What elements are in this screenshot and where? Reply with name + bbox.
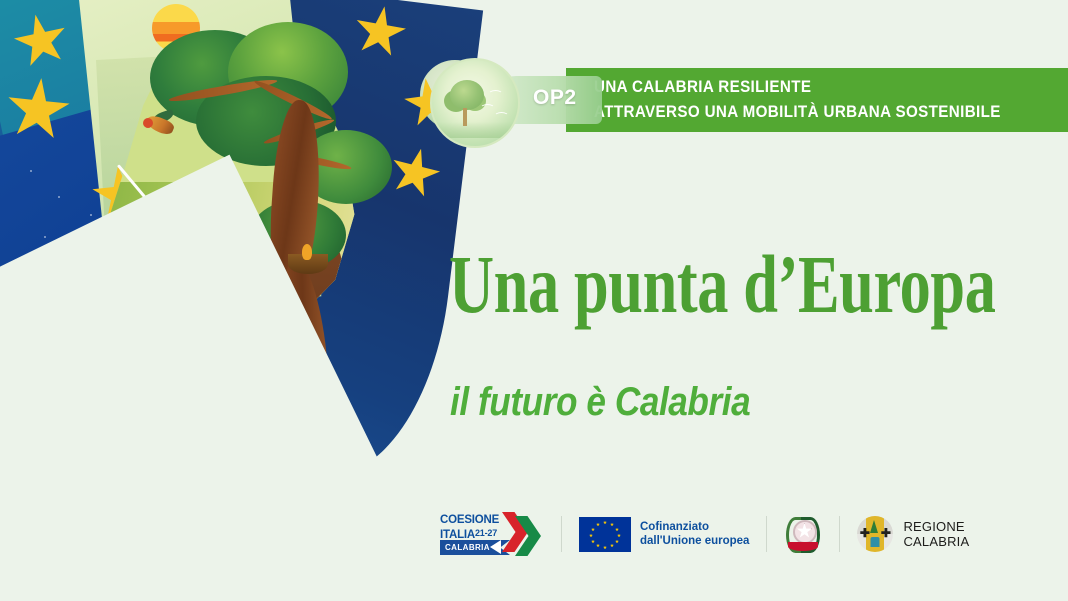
cross-icon: ✚ — [859, 528, 870, 539]
page-title: Una punta d’Europa — [449, 243, 996, 326]
logo-regione-calabria: ✚ ✚ REGIONE CALABRIA — [857, 505, 969, 563]
logo-divider — [766, 516, 767, 552]
badge-tree-canopy — [450, 80, 484, 110]
column-icon — [871, 537, 880, 547]
cofinanziato-wordmark: Cofinanziato dall'Unione europea — [640, 520, 749, 548]
logo-bar: COESIONE ITALIA21-27 CALABRIA — [440, 505, 1040, 563]
banner-line-1: UNA CALABRIA RESILIENTE — [594, 75, 1001, 100]
regione-line-2: CALABRIA — [903, 534, 969, 549]
logo-cofinanziato-ue: Cofinanziato dall'Unione europea — [579, 505, 749, 563]
page-subtitle: il futuro è Calabria — [450, 380, 750, 424]
calabria-illustration — [0, 0, 450, 601]
logo-coesione-italia: COESIONE ITALIA21-27 CALABRIA — [440, 505, 544, 563]
logo-divider — [839, 516, 840, 552]
coesione-years: 21-27 — [475, 528, 497, 538]
coesione-line-2: ITALIA — [440, 529, 475, 541]
tree-icon — [430, 58, 520, 148]
seagull-icon — [480, 104, 495, 113]
seagull-icon — [488, 90, 503, 99]
coesione-wordmark: COESIONE ITALIA21-27 — [440, 514, 499, 541]
logo-divider — [561, 516, 562, 552]
coesione-line-1: COESIONE — [440, 514, 499, 526]
banner-line-2: ATTRAVERSO UNA MOBILITÀ URBANA SOSTENIBI… — [594, 100, 1001, 125]
pine-icon — [870, 520, 878, 533]
seagull-icon — [494, 112, 509, 121]
bird-head — [143, 118, 153, 128]
poster-canvas: UNA CALABRIA RESILIENTE ATTRAVERSO UNA M… — [0, 0, 1068, 601]
logo-repubblica-italiana — [784, 505, 822, 563]
italian-republic-emblem-icon — [784, 513, 822, 555]
badge-tree-trunk — [463, 108, 467, 126]
regione-calabria-wordmark: REGIONE CALABRIA — [903, 519, 969, 549]
regione-calabria-emblem-icon: ✚ ✚ — [857, 516, 893, 552]
nest-chick — [302, 244, 312, 260]
coesione-region-label: CALABRIA — [445, 543, 490, 552]
cofinanziato-line-2: dall'Unione europea — [640, 534, 749, 548]
op2-banner: UNA CALABRIA RESILIENTE ATTRAVERSO UNA M… — [566, 68, 1068, 132]
cross-icon: ✚ — [880, 528, 891, 539]
regione-line-1: REGIONE — [903, 519, 969, 534]
banner-text: UNA CALABRIA RESILIENTE ATTRAVERSO UNA M… — [594, 75, 1001, 125]
cofinanziato-line-1: Cofinanziato — [640, 520, 749, 534]
op2-code-label: OP2 — [533, 86, 577, 110]
eu-flag-icon — [579, 517, 631, 552]
coesione-arrow-icon — [490, 540, 501, 554]
badge-ground — [432, 122, 518, 138]
